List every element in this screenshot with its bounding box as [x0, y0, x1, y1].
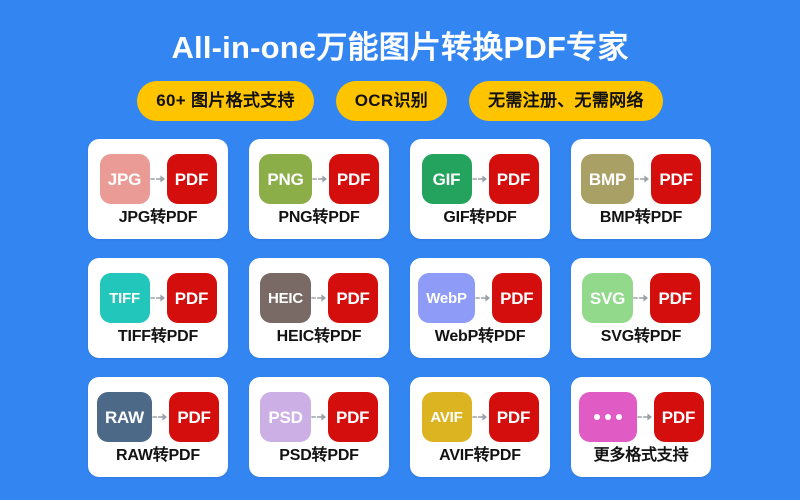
conversion-card[interactable]: AVIFPDFAVIF转PDF — [410, 377, 550, 477]
source-format-label: BMP — [589, 171, 626, 188]
card-caption: AVIF转PDF — [439, 448, 521, 464]
feature-pill-row: 60+ 图片格式支持 OCR识别 无需注册、无需网络 — [137, 81, 663, 121]
pdf-label: PDF — [336, 290, 369, 307]
arrow-right-icon — [311, 292, 328, 304]
pdf-label: PDF — [659, 171, 692, 188]
card-caption: GIF转PDF — [443, 210, 516, 226]
arrow-right-icon — [475, 292, 492, 304]
conversion-card[interactable]: WebPPDFWebP转PDF — [410, 258, 550, 358]
pdf-tile: PDF — [654, 392, 704, 442]
conversion-card[interactable]: PDF更多格式支持 — [571, 377, 711, 477]
feature-pill-ocr[interactable]: OCR识别 — [336, 81, 447, 121]
arrow-right-icon — [150, 173, 167, 185]
source-format-label: WebP — [426, 291, 467, 306]
conversion-card[interactable]: GIFPDFGIF转PDF — [410, 139, 550, 239]
source-format-label: PNG — [267, 171, 303, 188]
jpg-tile: JPG — [100, 154, 150, 204]
card-caption: 更多格式支持 — [594, 448, 689, 464]
webp-tile: WebP — [418, 273, 475, 323]
arrow-right-icon — [152, 411, 169, 423]
card-caption: BMP转PDF — [600, 210, 682, 226]
arrow-right-icon — [472, 411, 489, 423]
avif-tile: AVIF — [422, 392, 472, 442]
conversion-card[interactable]: HEICPDFHEIC转PDF — [249, 258, 389, 358]
pdf-tile: PDF — [489, 392, 539, 442]
source-format-label: HEIC — [268, 291, 303, 306]
source-format-label: JPG — [108, 171, 141, 188]
poster-root: All-in-one万能图片转换PDF专家 60+ 图片格式支持 OCR识别 无… — [0, 0, 800, 500]
card-caption: JPG转PDF — [119, 210, 198, 226]
source-format-label: SVG — [590, 290, 625, 307]
arrow-right-icon — [634, 173, 651, 185]
conversion-card[interactable]: RAWPDFRAW转PDF — [88, 377, 228, 477]
conversion-badges: RAWPDF — [97, 391, 219, 443]
pdf-label: PDF — [658, 290, 691, 307]
card-caption: RAW转PDF — [116, 448, 200, 464]
arrow-right-icon — [312, 173, 329, 185]
conversion-badges: HEICPDF — [260, 272, 378, 324]
conversion-badges: WebPPDF — [418, 272, 542, 324]
png-tile: PNG — [259, 154, 311, 204]
card-caption: PNG转PDF — [278, 210, 359, 226]
card-caption: WebP转PDF — [435, 329, 526, 345]
pdf-tile: PDF — [651, 154, 701, 204]
pdf-label: PDF — [497, 171, 530, 188]
conversion-card[interactable]: SVGPDFSVG转PDF — [571, 258, 711, 358]
pdf-label: PDF — [175, 171, 208, 188]
pdf-tile: PDF — [167, 273, 217, 323]
conversion-card[interactable]: PNGPDFPNG转PDF — [249, 139, 389, 239]
raw-tile: RAW — [97, 392, 152, 442]
conversion-badges: JPGPDF — [100, 153, 217, 205]
bmp-tile: BMP — [581, 154, 634, 204]
conversion-badges: BMPPDF — [581, 153, 701, 205]
feature-pill-formats[interactable]: 60+ 图片格式支持 — [137, 81, 314, 121]
conversion-badges: SVGPDF — [582, 272, 700, 324]
pdf-label: PDF — [497, 409, 530, 426]
pdf-tile: PDF — [329, 154, 379, 204]
pdf-tile: PDF — [492, 273, 542, 323]
source-format-label: RAW — [105, 409, 144, 426]
conversion-card[interactable]: BMPPDFBMP转PDF — [571, 139, 711, 239]
pdf-label: PDF — [175, 290, 208, 307]
source-format-label: AVIF — [430, 410, 462, 425]
conversion-card[interactable]: TIFFPDFTIFF转PDF — [88, 258, 228, 358]
pdf-tile: PDF — [328, 273, 378, 323]
arrow-right-icon — [150, 292, 167, 304]
pdf-label: PDF — [336, 409, 369, 426]
arrow-right-icon — [472, 173, 489, 185]
conversion-badges: GIFPDF — [422, 153, 539, 205]
pdf-tile: PDF — [167, 154, 217, 204]
svg-tile: SVG — [582, 273, 633, 323]
tiff-tile: TIFF — [100, 273, 150, 323]
arrow-right-icon — [633, 292, 650, 304]
pdf-label: PDF — [177, 409, 210, 426]
card-caption: HEIC转PDF — [277, 329, 362, 345]
conversion-card[interactable]: JPGPDFJPG转PDF — [88, 139, 228, 239]
pdf-label: PDF — [337, 171, 370, 188]
arrow-right-icon — [311, 411, 328, 423]
conversion-card-grid: JPGPDFJPG转PDFPNGPDFPNG转PDFGIFPDFGIF转PDFB… — [88, 139, 712, 477]
pdf-tile: PDF — [169, 392, 219, 442]
conversion-badges: TIFFPDF — [100, 272, 217, 324]
conversion-badges: AVIFPDF — [422, 391, 539, 443]
heic-tile: HEIC — [260, 273, 311, 323]
card-caption: SVG转PDF — [601, 329, 681, 345]
conversion-badges: PNGPDF — [259, 153, 378, 205]
gif-tile: GIF — [422, 154, 472, 204]
conversion-badges: PDF — [579, 391, 704, 443]
psd-tile: PSD — [260, 392, 310, 442]
source-format-label: PSD — [268, 409, 302, 426]
card-caption: PSD转PDF — [279, 448, 359, 464]
more-formats-tile — [579, 392, 637, 442]
arrow-right-icon — [637, 411, 654, 423]
pdf-tile: PDF — [489, 154, 539, 204]
source-format-label: GIF — [433, 171, 461, 188]
card-caption: TIFF转PDF — [118, 329, 198, 345]
source-format-label: TIFF — [109, 291, 140, 306]
page-title: All-in-one万能图片转换PDF专家 — [171, 31, 628, 65]
feature-pill-offline[interactable]: 无需注册、无需网络 — [469, 81, 663, 121]
conversion-card[interactable]: PSDPDFPSD转PDF — [249, 377, 389, 477]
pdf-tile: PDF — [328, 392, 378, 442]
conversion-badges: PSDPDF — [260, 391, 377, 443]
pdf-label: PDF — [662, 409, 695, 426]
pdf-tile: PDF — [650, 273, 700, 323]
pdf-label: PDF — [500, 290, 533, 307]
ellipsis-icon — [594, 414, 622, 420]
